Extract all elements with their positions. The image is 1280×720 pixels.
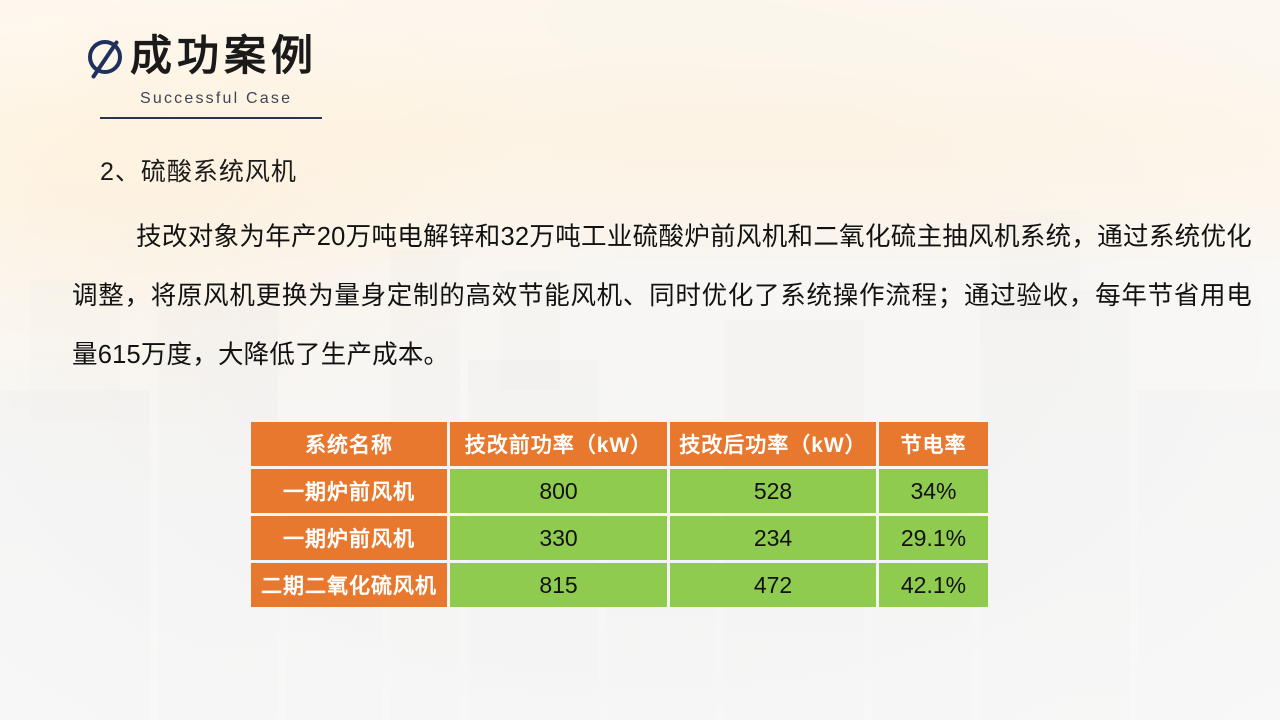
table-header-cell: 节电率	[879, 422, 988, 466]
slide-header: 成功案例 Successful Case	[88, 34, 322, 119]
header-title-row: 成功案例	[88, 34, 322, 78]
body-paragraph: 技改对象为年产20万吨电解锌和32万吨工业硫酸炉前风机和二氧化硫主抽风机系统，通…	[72, 208, 1252, 385]
paragraph-text: 技改对象为年产20万吨电解锌和32万吨工业硫酸炉前风机和二氧化硫主抽风机系统，通…	[72, 223, 1252, 369]
row-name-cell: 一期炉前风机	[251, 469, 447, 513]
row-saving-cell: 34%	[879, 469, 988, 513]
row-name-cell: 二期二氧化硫风机	[251, 563, 447, 607]
table-row: 二期二氧化硫风机 815 472 42.1%	[251, 563, 988, 607]
page-title: 成功案例	[130, 34, 318, 78]
table-row: 一期炉前风机 330 234 29.1%	[251, 516, 988, 560]
circle-slash-icon	[88, 40, 122, 74]
row-after-cell: 528	[670, 469, 876, 513]
row-saving-cell: 29.1%	[879, 516, 988, 560]
row-before-cell: 330	[450, 516, 667, 560]
table-header-cell: 技改后功率（kW）	[670, 422, 876, 466]
power-comparison-table: 系统名称 技改前功率（kW） 技改后功率（kW） 节电率 一期炉前风机 800 …	[248, 419, 991, 610]
row-name-cell: 一期炉前风机	[251, 516, 447, 560]
slide-canvas: 成功案例 Successful Case 2、硫酸系统风机 技改对象为年产20万…	[0, 0, 1280, 720]
table-header-cell: 系统名称	[251, 422, 447, 466]
row-after-cell: 472	[670, 563, 876, 607]
table-header-cell: 技改前功率（kW）	[450, 422, 667, 466]
table-row: 一期炉前风机 800 528 34%	[251, 469, 988, 513]
header-divider	[100, 117, 322, 119]
page-subtitle: Successful Case	[140, 90, 322, 108]
row-after-cell: 234	[670, 516, 876, 560]
row-before-cell: 800	[450, 469, 667, 513]
section-heading: 2、硫酸系统风机	[100, 152, 297, 188]
row-saving-cell: 42.1%	[879, 563, 988, 607]
table-header-row: 系统名称 技改前功率（kW） 技改后功率（kW） 节电率	[251, 422, 988, 466]
row-before-cell: 815	[450, 563, 667, 607]
